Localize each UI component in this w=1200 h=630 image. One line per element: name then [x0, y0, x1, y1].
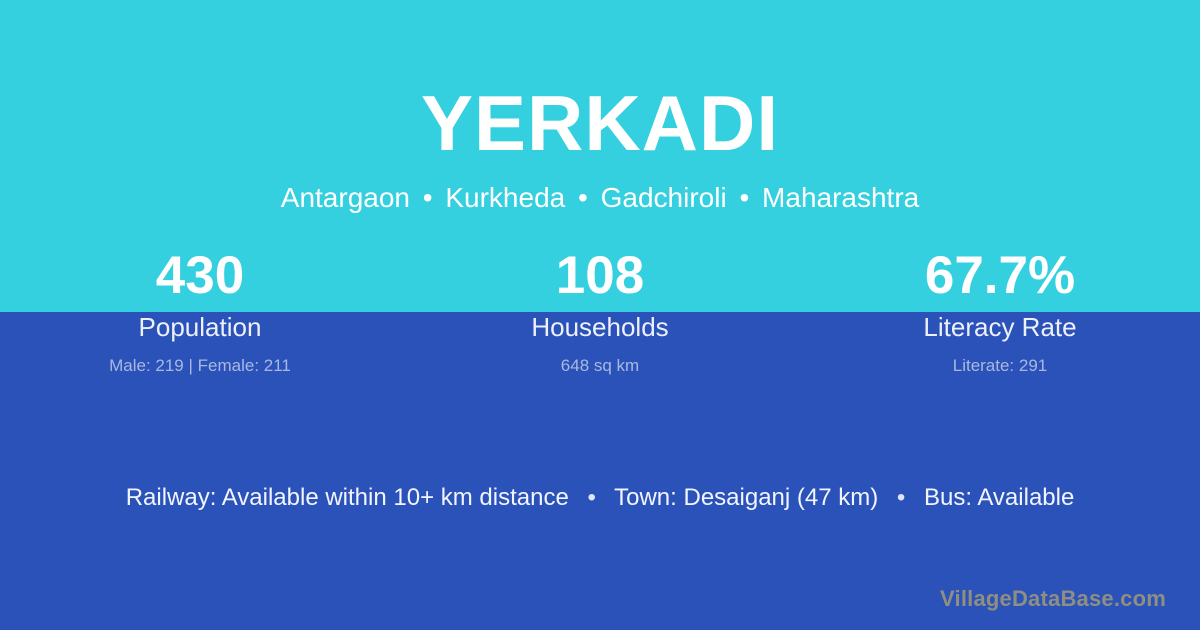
page-title: YERKADI — [0, 0, 1200, 162]
stat-label: Literacy Rate — [800, 305, 1200, 340]
stat-population: 430 Population Male: 219 | Female: 211 — [0, 246, 400, 374]
stat-subtext: Literate: 291 — [800, 340, 1200, 374]
info-separator: • — [885, 484, 917, 511]
stat-value: 67.7% — [800, 246, 1200, 305]
stat-subtext: Male: 219 | Female: 211 — [0, 340, 400, 374]
breadcrumb-separator: • — [418, 182, 438, 213]
breadcrumb: Antargaon • Kurkheda • Gadchiroli • Maha… — [0, 162, 1200, 212]
breadcrumb-item-tehsil: Kurkheda — [445, 182, 565, 213]
breadcrumb-item-district: Gadchiroli — [601, 182, 727, 213]
stat-households: 108 Households 648 sq km — [400, 246, 800, 374]
stat-label: Households — [400, 305, 800, 340]
stats-row: 430 Population Male: 219 | Female: 211 1… — [0, 246, 1200, 374]
site-watermark: VillageDataBase.com — [940, 588, 1166, 610]
breadcrumb-item-state: Maharashtra — [762, 182, 919, 213]
breadcrumb-item-block: Antargaon — [281, 182, 410, 213]
amenities-info-line: Railway: Available within 10+ km distanc… — [0, 486, 1200, 510]
stat-subtext: 648 sq km — [400, 340, 800, 374]
stat-value: 108 — [400, 246, 800, 305]
info-item-railway: Railway: Available within 10+ km distanc… — [126, 484, 569, 511]
breadcrumb-separator: • — [734, 182, 754, 213]
village-info-card: YERKADI Antargaon • Kurkheda • Gadchirol… — [0, 0, 1200, 630]
stat-value: 430 — [0, 246, 400, 305]
stat-literacy-rate: 67.7% Literacy Rate Literate: 291 — [800, 246, 1200, 374]
card-header: YERKADI Antargaon • Kurkheda • Gadchirol… — [0, 0, 1200, 212]
info-item-bus: Bus: Available — [924, 484, 1074, 511]
info-separator: • — [575, 484, 607, 511]
stat-label: Population — [0, 305, 400, 340]
info-item-town: Town: Desaiganj (47 km) — [614, 484, 878, 511]
breadcrumb-separator: • — [573, 182, 593, 213]
